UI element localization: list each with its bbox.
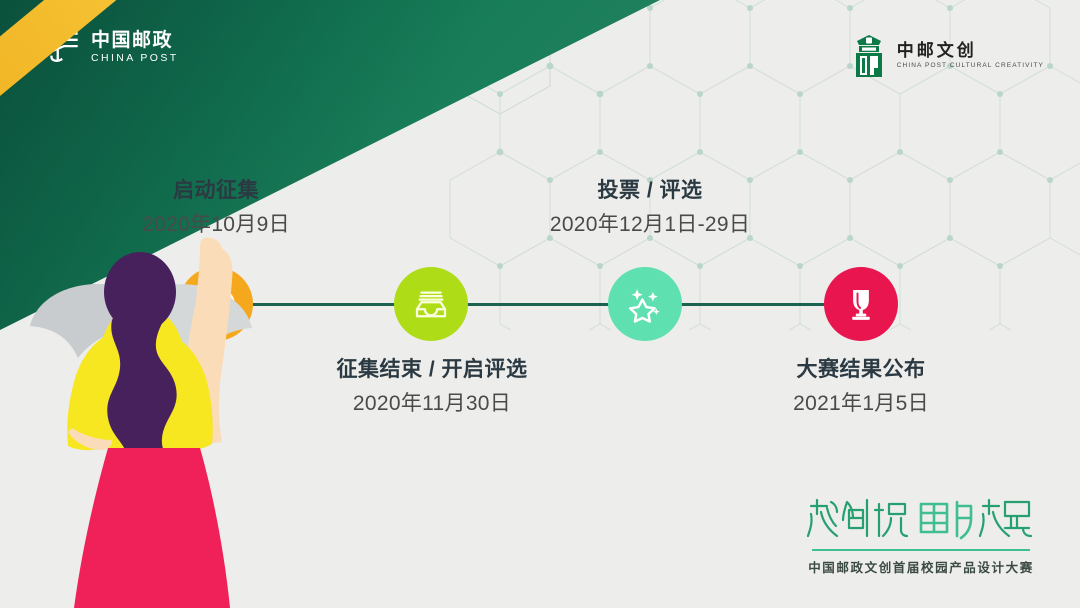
- inbox-tray-icon: [410, 283, 452, 325]
- brand-subtitle: 中国邮政文创首届校园产品设计大赛: [796, 557, 1046, 576]
- woman-with-wings-illustration: [8, 236, 308, 608]
- trophy-icon: [840, 283, 882, 325]
- timeline-node-voting[interactable]: [608, 267, 682, 341]
- timeline-title-submission-close: 征集结束 / 开启评选: [282, 357, 582, 384]
- timeline-node-results[interactable]: [824, 267, 898, 341]
- timeline-label-submission-close: 征集结束 / 开启评选 2020年11月30日: [282, 357, 582, 418]
- timeline-date-results: 2021年1月5日: [736, 391, 986, 418]
- china-post-cultural-creativity-logo: 中邮文创 CHINA POST CULTURAL CREATIVITY: [850, 34, 1044, 78]
- timeline-node-submission-close[interactable]: [394, 267, 468, 341]
- star-sparkle-icon: [624, 283, 666, 325]
- china-post-logo-en: CHINA POST: [91, 53, 179, 64]
- timeline-axis-line: [216, 303, 861, 306]
- timeline-title-launch: 启动征集: [46, 178, 386, 205]
- timeline-title-results: 大赛结果公布: [736, 357, 986, 384]
- china-post-logo-cn: 中国邮政: [91, 31, 179, 50]
- timeline-date-launch: 2020年10月9日: [46, 212, 386, 239]
- campaign-brand-lockup: 中国邮政文创首届校园产品设计大赛: [796, 494, 1046, 576]
- slide-canvas: 中国邮政 CHINA POST 大赛时间轴 中邮文创: [0, 0, 1080, 608]
- timeline-label-voting: 投票 / 评选 2020年12月1日-29日: [500, 178, 800, 239]
- timeline-date-voting: 2020年12月1日-29日: [500, 212, 800, 239]
- brand-divider: [812, 549, 1030, 551]
- cpcc-logo-cn: 中邮文创: [897, 42, 1044, 59]
- skirt-shape: [74, 448, 230, 608]
- campaign-logo-wordmark: [805, 494, 1037, 542]
- cpcc-logo-en: CHINA POST CULTURAL CREATIVITY: [897, 63, 1044, 70]
- timeline-label-launch: 启动征集 2020年10月9日: [46, 178, 386, 239]
- timeline-title-voting: 投票 / 评选: [500, 178, 800, 205]
- pavilion-seal-icon: [850, 34, 888, 78]
- timeline-date-submission-close: 2020年11月30日: [282, 391, 582, 418]
- timeline-label-results: 大赛结果公布 2021年1月5日: [736, 357, 986, 418]
